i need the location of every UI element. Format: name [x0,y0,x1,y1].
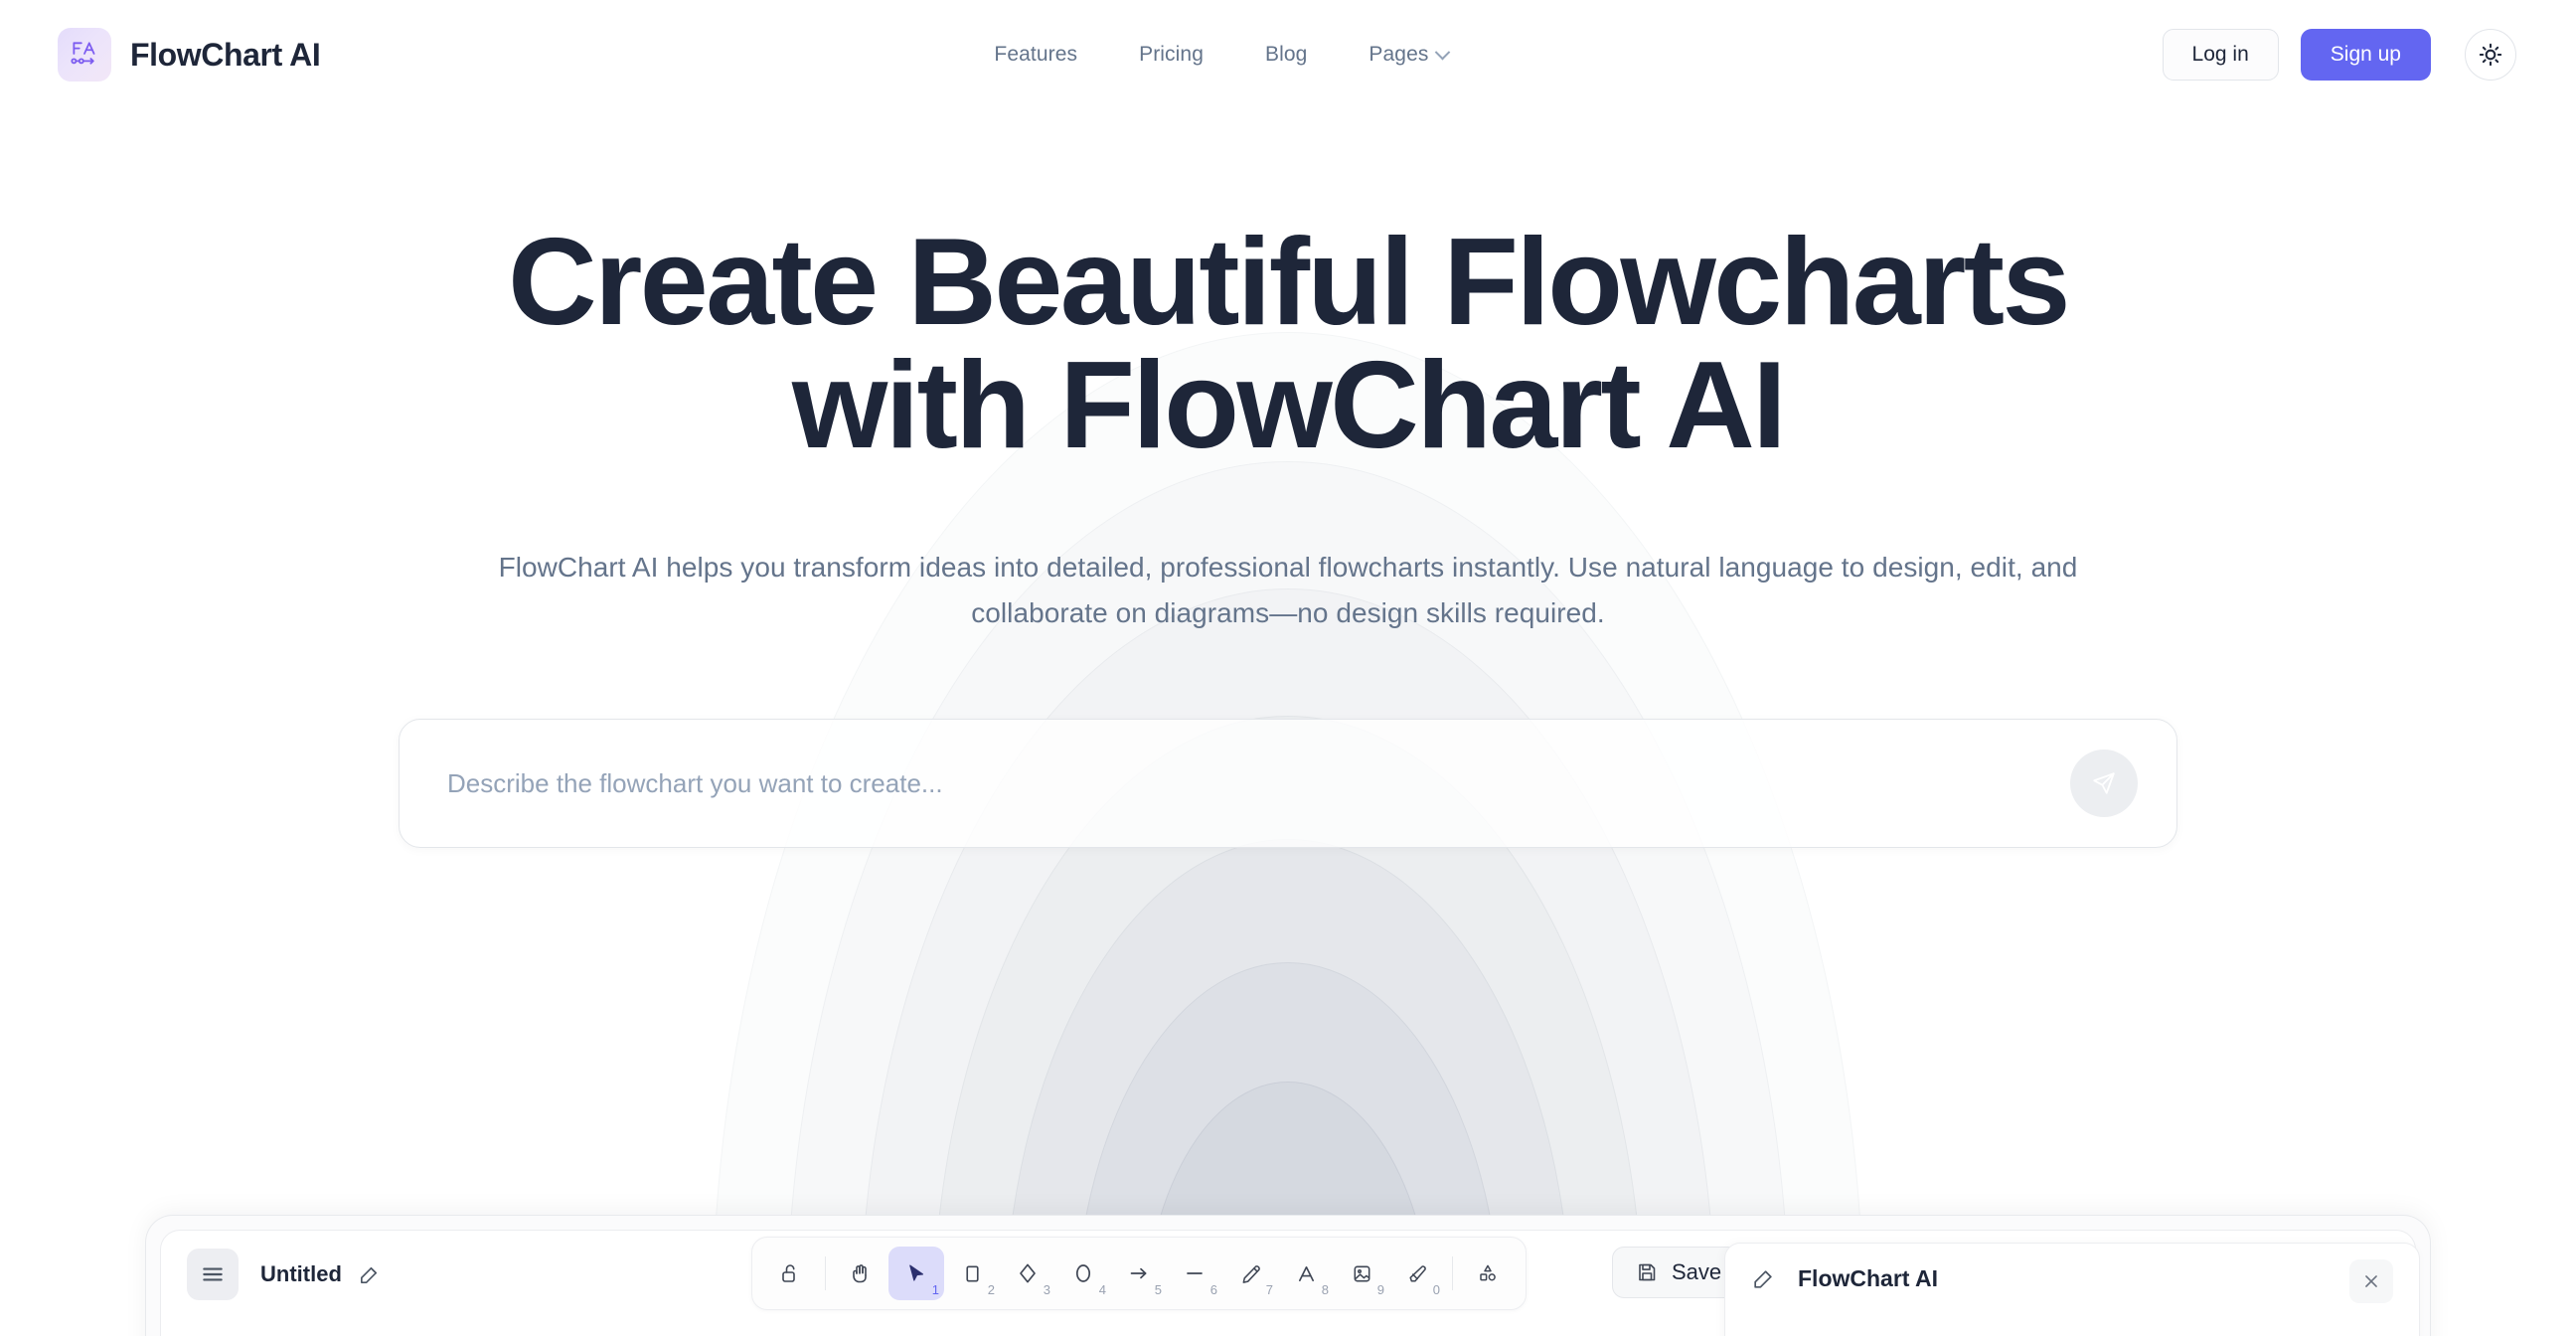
tool-shortcut-key: 4 [1099,1283,1106,1296]
sun-icon [2478,42,2503,68]
send-paper-plane-icon [2091,770,2117,796]
image-tool-button[interactable]: 9 [1334,1247,1389,1300]
select-tool-button[interactable]: 1 [888,1247,944,1300]
document-title-group[interactable]: Untitled [260,1261,381,1287]
editor-canvas-frame: Untitled [160,1230,2416,1336]
edit-pencil-icon[interactable] [1751,1266,1776,1291]
editor-toolbar: 1 2 3 [751,1237,1527,1310]
hand-tool-button[interactable] [833,1247,888,1300]
page-title: Create Beautiful Flowcharts with FlowCha… [508,221,2068,467]
cursor-arrow-icon [905,1262,928,1285]
toolbar-separator [1452,1256,1453,1290]
prompt-input[interactable] [447,720,2067,847]
floppy-disk-icon [1635,1260,1659,1284]
diamond-tool-button[interactable]: 3 [1000,1247,1055,1300]
arrow-right-icon [1127,1261,1151,1285]
nav-label: Pricing [1139,43,1204,67]
tool-shortcut-key: 3 [1044,1283,1050,1296]
draw-tool-button[interactable]: 7 [1222,1247,1278,1300]
chevron-down-icon [1435,44,1451,60]
arrow-tool-button[interactable]: 5 [1111,1247,1167,1300]
rectangle-icon [961,1262,984,1285]
nav-item-blog[interactable]: Blog [1265,43,1307,67]
tool-shortcut-key: 7 [1266,1283,1273,1296]
tool-shortcut-key: 8 [1322,1283,1329,1296]
tool-shortcut-key: 6 [1210,1283,1217,1296]
login-button[interactable]: Log in [2163,29,2279,81]
lock-tool-button[interactable] [762,1247,818,1300]
editor-preview-panel: Untitled [145,1215,2431,1336]
toolbar-separator [825,1256,826,1290]
editor-left-controls: Untitled [161,1231,381,1300]
hamburger-menu-icon[interactable] [187,1249,239,1300]
tool-shortcut-key: 2 [988,1283,995,1296]
nav-label: Features [994,43,1077,67]
prompt-box[interactable] [399,719,2177,848]
eraser-tool-button[interactable]: 0 [1389,1247,1445,1300]
hero-title-line-1: Create Beautiful Flowcharts [508,214,2068,351]
rectangle-tool-button[interactable]: 2 [944,1247,1000,1300]
document-title: Untitled [260,1261,342,1287]
ai-panel-header: FlowChart AI [1725,1244,2419,1292]
ai-panel-title: FlowChart AI [1798,1265,1938,1292]
pencil-draw-icon [1239,1262,1262,1285]
line-tool-button[interactable]: 6 [1167,1247,1222,1300]
ai-side-panel: FlowChart AI [1724,1243,2420,1336]
nav-label: Blog [1265,43,1307,67]
edit-pencil-icon[interactable] [358,1263,381,1286]
theme-toggle-button[interactable] [2465,29,2516,81]
shapes-library-button[interactable] [1460,1247,1516,1300]
text-a-icon [1295,1262,1318,1285]
hero-section: Create Beautiful Flowcharts with FlowCha… [0,109,2576,848]
main-navigation: Features Pricing Blog Pages [280,43,2162,67]
hand-icon [849,1261,873,1285]
image-icon [1351,1262,1373,1285]
nav-item-features[interactable]: Features [994,43,1077,67]
ellipse-icon [1071,1261,1095,1285]
nav-item-pricing[interactable]: Pricing [1139,43,1204,67]
diamond-icon [1016,1261,1040,1285]
header-actions: Log in Sign up [2163,29,2516,81]
save-button-label: Save [1672,1259,1721,1285]
text-tool-button[interactable]: 8 [1278,1247,1334,1300]
tool-shortcut-key: 0 [1433,1283,1440,1296]
tool-shortcut-key: 1 [932,1283,939,1296]
signup-button[interactable]: Sign up [2301,29,2431,81]
ellipse-tool-button[interactable]: 4 [1055,1247,1111,1300]
nav-label: Pages [1368,43,1428,67]
close-icon[interactable] [2349,1259,2393,1303]
tool-shortcut-key: 9 [1377,1283,1384,1296]
hero-subtitle: FlowChart AI helps you transform ideas i… [493,545,2083,635]
site-header: FlowChart AI Features Pricing Blog Pages… [0,0,2576,109]
fa-flowchart-logo-icon [58,28,111,82]
shapes-library-icon [1476,1261,1500,1285]
prompt-area [399,719,2177,848]
tool-shortcut-key: 5 [1155,1283,1162,1296]
nav-item-pages[interactable]: Pages [1368,43,1448,67]
eraser-icon [1406,1262,1429,1285]
hero-title-line-2: with FlowChart AI [792,337,1784,474]
line-icon [1183,1261,1207,1285]
send-button[interactable] [2070,750,2138,817]
lock-open-icon [778,1261,802,1285]
